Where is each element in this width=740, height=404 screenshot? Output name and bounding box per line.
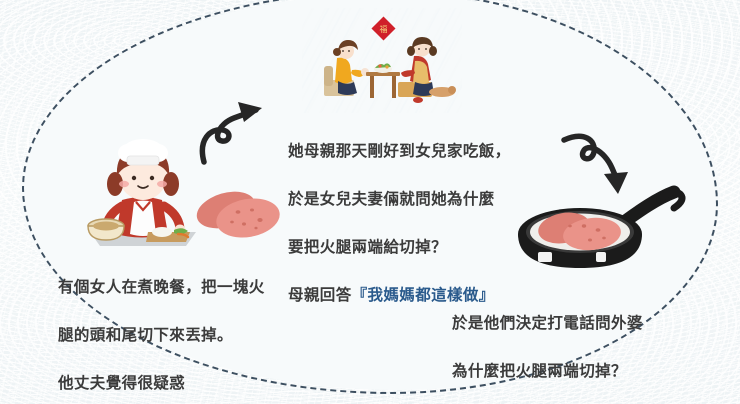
top-line-1: 她母親那天剛好到女兒家吃飯， [288,140,588,164]
fu-decoration-icon: 福 [371,16,395,40]
ham-slices [186,178,298,248]
comic-canvas: 福 [0,0,740,404]
br-line-1: 於是他們決定打電話問外婆 [452,312,732,336]
br-line-2: 為什麼把火腿兩端切掉？ [452,360,732,384]
svg-text:福: 福 [380,25,388,34]
person-left-yellow-sweater [324,40,369,96]
cooking-pot-icon [88,219,124,240]
bl-line-2: 腿的頭和尾切下來丟掉。 [58,324,358,348]
wooden-table [366,63,400,98]
bl-line-3: 他丈夫覺得很疑惑 [58,372,358,396]
bl-line-1: 有個女人在煮晚餐，把一塊火 [58,276,358,300]
story-text-bottom-right: 於是他們決定打電話問外婆 為什麼把火腿兩端切掉？ 電話那頭的外婆這樣回答 『因為… [452,288,732,404]
white-apron [130,201,156,237]
story-text-bottom-left: 有個女人在煮晚餐，把一塊火 腿的頭和尾切下來丟掉。 他丈夫覺得很疑惑 女人解釋說… [58,252,358,404]
person-right-red-apron [398,37,456,103]
chef-hat-icon [118,139,168,165]
top-line-2: 於是女兒夫妻倆就問她為什麼 [288,188,588,212]
curved-arrow-up-right [196,96,282,168]
family-dinner-illustration: 福 [302,8,462,113]
